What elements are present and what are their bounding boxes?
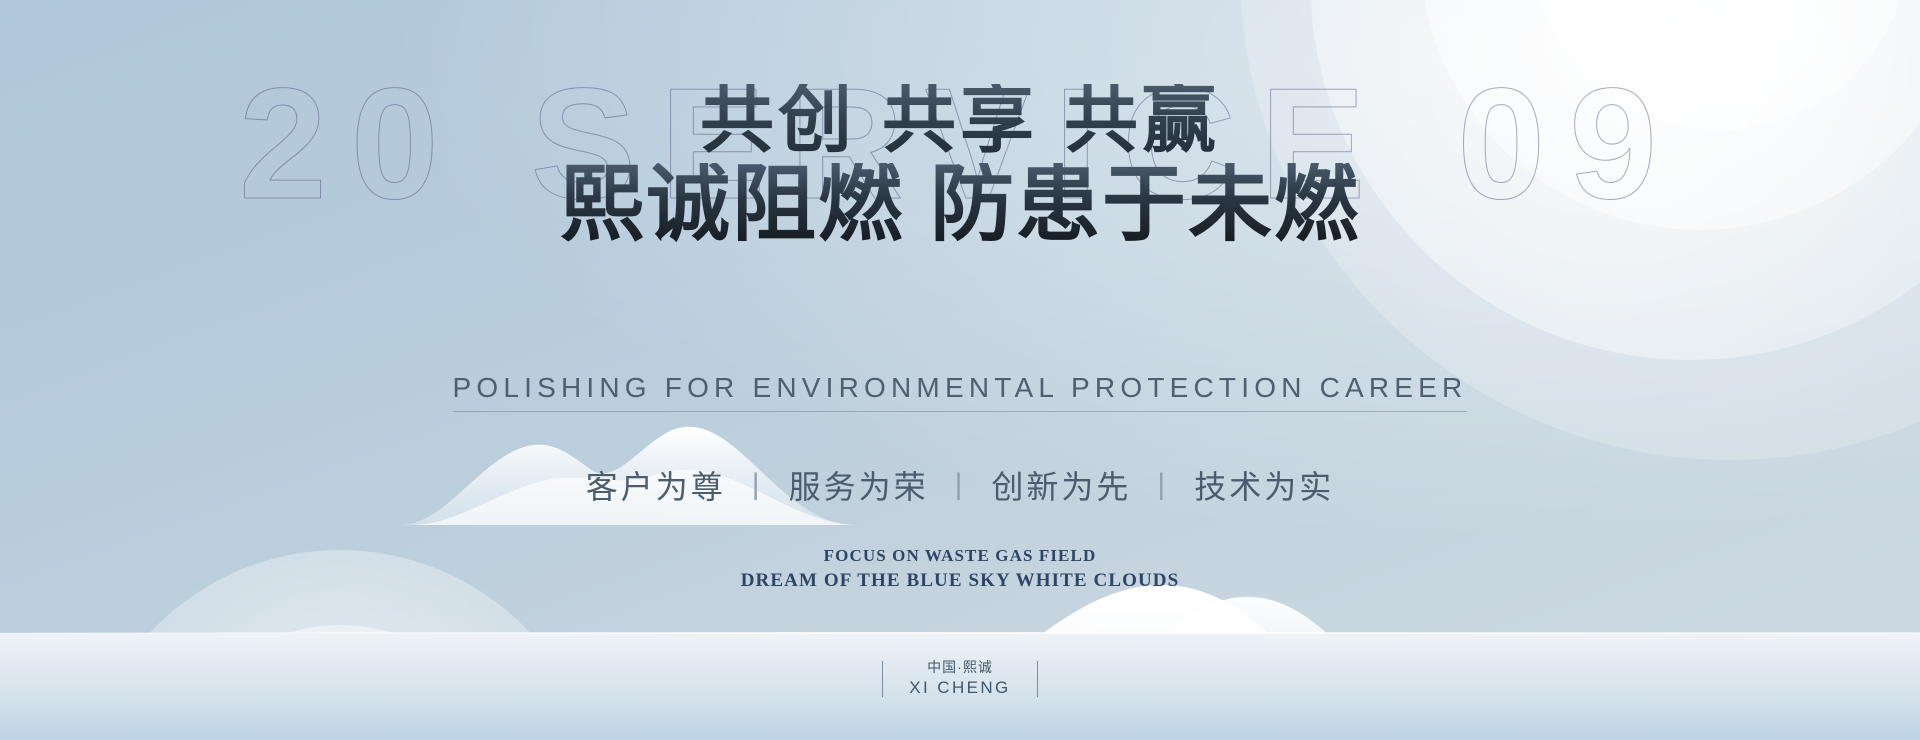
value-separator-3: | (1157, 468, 1168, 502)
value-item-3: 创新为先 (965, 462, 1157, 508)
headline-word-2: 共享 (882, 80, 1038, 162)
footer-divider-right (1037, 661, 1038, 697)
headline-word-1: 共创 (700, 80, 856, 162)
value-separator-2: | (955, 468, 966, 502)
headline-line-1: 共创共享共赢 (0, 84, 1920, 159)
headline-line-2: 熙诚阻燃防患于未燃 (0, 163, 1920, 249)
banner-canvas: 20 SERVICE 09 共创共享共赢 熙诚阻燃防患于未燃 POLISHING… (0, 0, 1920, 740)
headline-block: 共创共享共赢 熙诚阻燃防患于未燃 (0, 0, 1920, 249)
footer-divider-left (882, 661, 883, 697)
footer-logo-en: XI CHENG (909, 677, 1010, 700)
values-row: 客户为尊 | 服务为荣 | 创新为先 | 技术为实 (0, 462, 1920, 508)
tagline-en-text: POLISHING FOR ENVIRONMENTAL PROTECTION C… (453, 372, 1468, 412)
headline-phrase-1: 熙诚阻燃 (560, 159, 904, 252)
footer-logo-cn: 中国·熙诚 (909, 658, 1010, 677)
footer-logo: 中国·熙诚 XI CHENG (0, 658, 1920, 700)
horizon-line (0, 632, 1920, 634)
value-item-4: 技术为实 (1168, 462, 1360, 508)
headline-word-3: 共赢 (1064, 80, 1220, 162)
sub-line-1: FOCUS ON WASTE GAS FIELD (0, 546, 1920, 566)
value-item-1: 客户为尊 (560, 462, 752, 508)
value-separator-1: | (752, 468, 763, 502)
footer-logo-text: 中国·熙诚 XI CHENG (909, 658, 1010, 700)
tagline-en: POLISHING FOR ENVIRONMENTAL PROTECTION C… (0, 372, 1920, 412)
headline-phrase-2: 防患于未燃 (930, 159, 1360, 252)
value-item-2: 服务为荣 (763, 462, 955, 508)
sub-line-2: DREAM OF THE BLUE SKY WHITE CLOUDS (0, 570, 1920, 592)
